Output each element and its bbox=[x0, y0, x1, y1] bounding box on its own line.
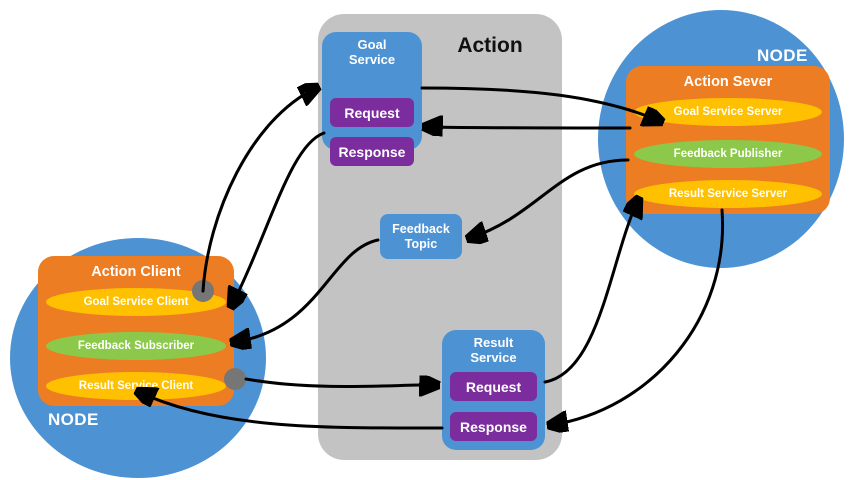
arrow-result-request-to-server bbox=[545, 200, 638, 382]
diagram-canvas: Action Action Client Goal Service Client… bbox=[0, 0, 854, 480]
arrow-goal-server-to-response bbox=[426, 127, 630, 128]
arrow-feedback-publisher-to-topic bbox=[470, 160, 628, 238]
connection-arrows bbox=[0, 0, 854, 480]
arrow-result-server-to-response bbox=[551, 210, 723, 425]
arrow-result-response-to-client bbox=[139, 392, 442, 428]
arrow-client-to-goal-request bbox=[203, 88, 316, 291]
arrow-client-to-result-request bbox=[246, 379, 436, 387]
arrow-goal-request-to-server bbox=[422, 88, 660, 121]
